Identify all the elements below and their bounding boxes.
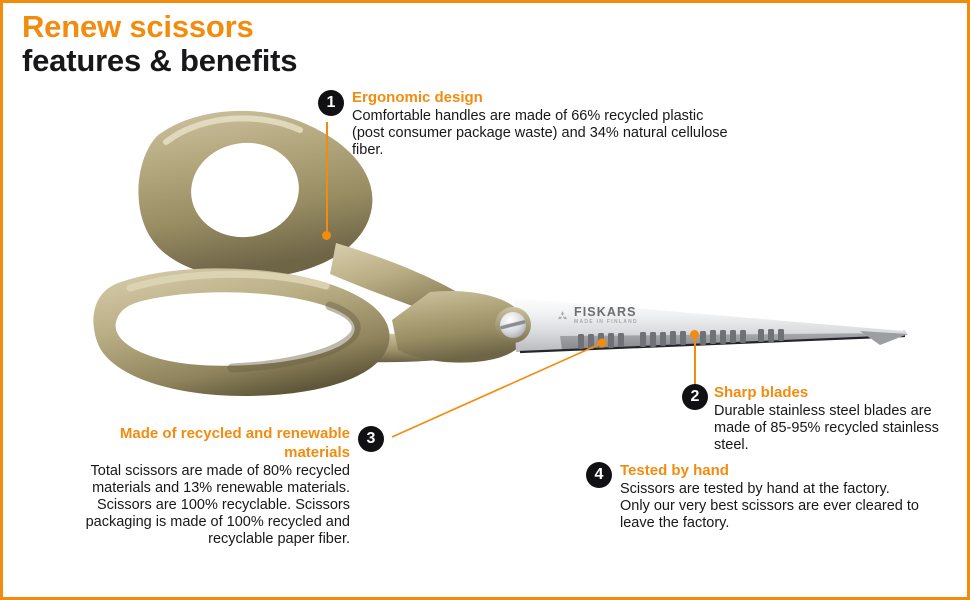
callout-1-body: Comfortable handles are made of 66% recy…: [352, 108, 732, 159]
callout-2: Sharp blades Durable stainless steel bla…: [714, 383, 950, 454]
page-title: Renew scissors features & benefits: [22, 10, 297, 78]
title-line-2: features & benefits: [22, 44, 297, 78]
callout-3-heading: Made of recycled and renewable materials: [78, 424, 350, 462]
callout-4-heading: Tested by hand: [620, 461, 920, 480]
callout-badge-3: 3: [358, 426, 384, 452]
callout-1-heading: Ergonomic design: [352, 88, 732, 107]
infographic-page: FISKARS MADE IN FINLAND Renew scissors f…: [0, 0, 970, 600]
fiskars-brand-mark: FISKARS MADE IN FINLAND: [556, 306, 638, 326]
leader-dot-2: [690, 330, 699, 339]
title-line-1: Renew scissors: [22, 10, 297, 44]
callout-4-body: Scissors are tested by hand at the facto…: [620, 481, 920, 532]
callout-3-body: Total scissors are made of 80% recycled …: [78, 463, 350, 548]
callout-4: Tested by hand Scissors are tested by ha…: [620, 461, 920, 532]
leader-line-1: [326, 122, 328, 236]
leader-line-2: [694, 336, 696, 386]
callout-badge-2: 2: [682, 384, 708, 410]
brand-name: FISKARS: [574, 306, 638, 318]
brand-origin: MADE IN FINLAND: [574, 319, 638, 326]
callout-2-heading: Sharp blades: [714, 383, 950, 402]
callout-1: Ergonomic design Comfortable handles are…: [352, 88, 732, 159]
callout-badge-1: 1: [318, 90, 344, 116]
recycle-icon: [556, 310, 569, 323]
callout-3: Made of recycled and renewable materials…: [78, 424, 350, 548]
leader-dot-1: [322, 231, 331, 240]
callout-2-body: Durable stainless steel blades are made …: [714, 403, 950, 454]
callout-badge-4: 4: [586, 462, 612, 488]
